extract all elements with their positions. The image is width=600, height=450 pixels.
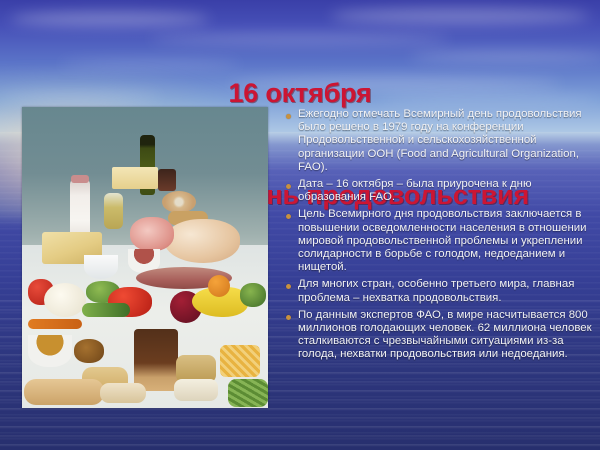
cauliflower-icon [44, 283, 86, 317]
broccoli-icon [240, 283, 266, 307]
title-line-date: 16 октября [0, 76, 600, 110]
bullet-text: Цель Всемирного дня продовольствия заклю… [298, 208, 594, 274]
corn-bowl-icon [28, 335, 72, 367]
baguette-icon [24, 379, 104, 405]
jam-jar-icon [158, 169, 176, 191]
list-item: Цель Всемирного дня продовольствия заклю… [286, 208, 594, 274]
bullet-text: По данным экспертов ФАО, в мире насчитыв… [298, 309, 594, 362]
bullet-dot-icon [286, 315, 291, 320]
bottle-cap-icon [71, 175, 89, 183]
bullet-text: Ежегодно отмечать Всемирный день продово… [298, 108, 594, 174]
raw-meat-icon [130, 217, 174, 251]
list-item: Для многих стран, особенно третьего мира… [286, 278, 594, 304]
flat-bread-icon [100, 383, 146, 403]
bran-roll-icon [74, 339, 104, 363]
pasta-bowl-icon [220, 345, 260, 377]
presentation-slide: 16 октября Всемирный день продовольствия [0, 0, 600, 450]
food-photo [22, 107, 268, 408]
list-item: Дата – 16 октября – была приурочена к дн… [286, 178, 594, 204]
bullet-text: Для многих стран, особенно третьего мира… [298, 278, 594, 304]
bullet-list: Ежегодно отмечать Всемирный день продово… [286, 108, 594, 366]
bullet-dot-icon [286, 214, 291, 219]
bullet-dot-icon [286, 284, 291, 289]
bullet-text: Дата – 16 октября – была приурочена к дн… [298, 178, 594, 204]
list-item: Ежегодно отмечать Всемирный день продово… [286, 108, 594, 174]
carrot-icon [28, 319, 82, 329]
orange-icon [208, 275, 230, 297]
green-onion-icon [82, 303, 130, 317]
rice-pile-icon [174, 379, 218, 401]
rye-bread-loaf-icon [134, 329, 178, 391]
milk-bottle-icon [70, 179, 90, 239]
list-item: По данным экспертов ФАО, в мире насчитыв… [286, 309, 594, 362]
cheese-block-icon [112, 167, 158, 189]
salt-bowl-icon [84, 255, 118, 279]
green-beans-icon [228, 379, 268, 407]
bullet-dot-icon [286, 184, 291, 189]
bullet-dot-icon [286, 114, 291, 119]
chicken-icon [164, 219, 240, 263]
oil-jar-icon [104, 193, 123, 229]
bagel-icon [162, 191, 196, 213]
